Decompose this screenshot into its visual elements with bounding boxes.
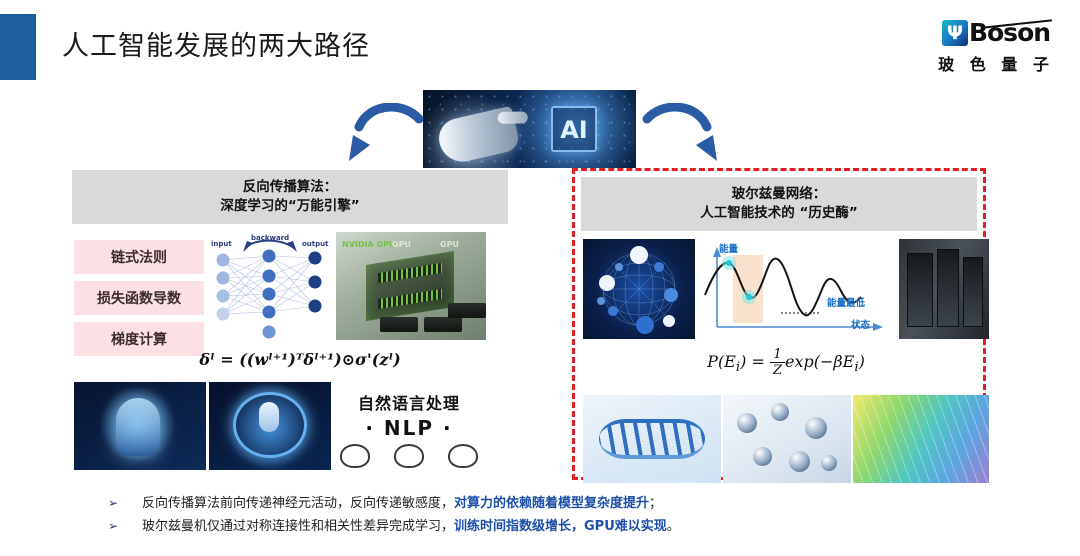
boltzmann-formula-p: P(E bbox=[707, 352, 736, 371]
brain-icon-left bbox=[340, 444, 370, 468]
right-heading-line-1: 玻尔兹曼网络： bbox=[585, 185, 973, 204]
server-rack-2 bbox=[937, 249, 959, 327]
boltzmann-formula-tail: ) bbox=[859, 352, 865, 371]
boltzmann-formula-exp: exp(−βE bbox=[785, 352, 854, 371]
fraction-numerator: 1 bbox=[770, 347, 785, 363]
psi-icon: Ψ bbox=[942, 20, 968, 46]
dna-helix-image bbox=[583, 395, 721, 483]
boltzmann-formula-eq: ) = bbox=[740, 352, 765, 371]
molecular-structure-image bbox=[723, 395, 851, 483]
molecule-atom-1 bbox=[737, 413, 757, 433]
gpu-card-2 bbox=[424, 317, 462, 332]
bullet-2-plain-1: 玻尔兹曼机仅通过对称连接性和相关性差异完成学习， bbox=[142, 519, 454, 534]
right-heading-line-2: 人工智能技术的 “历史酶” bbox=[585, 204, 973, 223]
gpu-card-3 bbox=[448, 303, 486, 318]
molecule-atom-5 bbox=[789, 451, 810, 472]
molecule-atom-4 bbox=[753, 447, 772, 466]
bullet-2-highlight: 训练时间指数级增长，GPU难以实现 bbox=[454, 519, 667, 534]
nn-label-backward: backward bbox=[251, 234, 289, 242]
bullet-2-plain-2: 。 bbox=[667, 519, 680, 534]
left-heading-line-2: 深度学习的“万能引擎” bbox=[76, 197, 504, 216]
bullet-marker-2: ➢ bbox=[108, 519, 142, 533]
bullet-1-plain-1: 反向传播算法前向传递神经元活动，反向传递敏感度， bbox=[142, 496, 454, 511]
title-accent-bar bbox=[0, 14, 36, 80]
curved-arrow-left-icon bbox=[345, 103, 429, 169]
right-panel-body: 能量 能量最低 状态 P(Ei) = 1 Z exp(−βEi) bbox=[581, 237, 977, 495]
ai-chip-label: AI bbox=[551, 106, 597, 152]
logo-wordmark: Boson bbox=[969, 20, 1050, 46]
gpu-datacenter-image: NVIDIA GPU GPU GPU bbox=[336, 232, 486, 340]
left-heading-line-1: 反向传播算法： bbox=[76, 178, 504, 197]
weather-map-image bbox=[853, 395, 989, 483]
chart-y-axis-label: 能量 bbox=[719, 241, 738, 255]
fraction-denominator: Z bbox=[770, 363, 785, 378]
bullet-text-1: 反向传播算法前向传递神经元活动，反向传递敏感度，对算力的依赖随着模型复杂度提升； bbox=[142, 492, 662, 511]
backprop-formula: δˡ = ((wˡ⁺¹)ᵀδˡ⁺¹)⊙σ'(zˡ) bbox=[150, 350, 450, 369]
microphone-icon bbox=[259, 402, 279, 432]
molecule-atom-2 bbox=[771, 403, 789, 421]
left-image-strip: 自然语言处理 · NLP · bbox=[74, 382, 486, 470]
left-panel-heading: 反向传播算法： 深度学习的“万能引擎” bbox=[72, 170, 508, 224]
dna-strand-icon bbox=[599, 419, 705, 459]
molecule-atom-3 bbox=[805, 417, 827, 439]
nvidia-logo-icon: NVIDIA GPU bbox=[342, 240, 395, 249]
gpu-label-left: GPU bbox=[392, 240, 411, 249]
brain-icon-right bbox=[448, 444, 478, 468]
bullet-1-highlight: 对算力的依赖随着模型复杂度提升 bbox=[454, 496, 649, 511]
brain-icon-center bbox=[394, 444, 424, 468]
right-image-strip bbox=[583, 395, 989, 483]
boltzmann-formula: P(Ei) = 1 Z exp(−βEi) bbox=[621, 347, 951, 378]
bullet-text-2: 玻尔兹曼机仅通过对称连接性和相关性差异完成学习，训练时间指数级增长，GPU难以实… bbox=[142, 515, 680, 534]
neural-network-diagram: input backward output bbox=[207, 232, 333, 340]
right-panel: 玻尔兹曼网络： 人工智能技术的 “历史酶” bbox=[572, 168, 986, 480]
right-panel-heading: 玻尔兹曼网络： 人工智能技术的 “历史酶” bbox=[581, 177, 977, 231]
boltzmann-fraction: 1 Z bbox=[770, 347, 785, 378]
logo-row: Ψ Boson bbox=[926, 18, 1066, 48]
backprop-formula-text: δˡ = ((wˡ⁺¹)ᵀδˡ⁺¹)⊙σ'(zˡ) bbox=[199, 350, 400, 369]
voice-assistant-image bbox=[209, 382, 331, 470]
bullet-1-plain-2: ； bbox=[649, 496, 662, 511]
left-panel: 反向传播算法： 深度学习的“万能引擎” 链式法则 损失函数导数 梯度计算 bbox=[72, 170, 508, 485]
molecule-atom-6 bbox=[821, 455, 837, 471]
left-panel-body: 链式法则 损失函数导数 梯度计算 bbox=[72, 232, 508, 502]
bullet-list: ➢ 反向传播算法前向传递神经元活动，反向传递敏感度，对算力的依赖随着模型复杂度提… bbox=[108, 492, 1008, 538]
logo-chinese-name: 玻 色 量 子 bbox=[926, 51, 1066, 75]
ai-head-image bbox=[74, 382, 206, 470]
chart-x-axis-label: 状态 bbox=[851, 317, 870, 331]
tag-chain-rule: 链式法则 bbox=[74, 240, 204, 274]
server-rack-3 bbox=[963, 257, 983, 327]
chart-annotation-min-energy: 能量最低 bbox=[827, 295, 865, 309]
ai-hero-image: AI bbox=[423, 90, 636, 168]
nlp-english-label: · NLP · bbox=[332, 416, 486, 440]
bullet-row-1: ➢ 反向传播算法前向传递神经元活动，反向传递敏感度，对算力的依赖随着模型复杂度提… bbox=[108, 492, 1008, 511]
backprop-tag-list: 链式法则 损失函数导数 梯度计算 bbox=[74, 240, 204, 363]
slide-root: 人工智能发展的两大路径 Ψ Boson 玻 色 量 子 AI 反向传播算法： 深… bbox=[0, 0, 1080, 556]
energy-landscape-chart: 能量 能量最低 状态 bbox=[699, 239, 895, 339]
gpu-label-right: GPU bbox=[440, 240, 459, 249]
nlp-chinese-label: 自然语言处理 bbox=[332, 390, 486, 414]
boltzmann-network-image bbox=[583, 239, 695, 339]
gpu-server-stack bbox=[366, 251, 454, 321]
page-title: 人工智能发展的两大路径 bbox=[62, 24, 370, 63]
nn-label-output: output bbox=[302, 240, 328, 248]
bullet-marker-1: ➢ bbox=[108, 496, 142, 510]
quantum-computer-image bbox=[899, 239, 989, 339]
brand-logo: Ψ Boson 玻 色 量 子 bbox=[926, 18, 1066, 75]
tag-loss-derivative: 损失函数导数 bbox=[74, 281, 204, 315]
nn-label-input: input bbox=[211, 240, 232, 248]
nlp-caption-block: 自然语言处理 · NLP · bbox=[332, 382, 486, 470]
gpu-card-1 bbox=[380, 317, 418, 332]
server-rack-1 bbox=[907, 253, 933, 327]
bullet-row-2: ➢ 玻尔兹曼机仅通过对称连接性和相关性差异完成学习，训练时间指数级增长，GPU难… bbox=[108, 515, 1008, 534]
curved-arrow-right-icon bbox=[637, 103, 721, 169]
